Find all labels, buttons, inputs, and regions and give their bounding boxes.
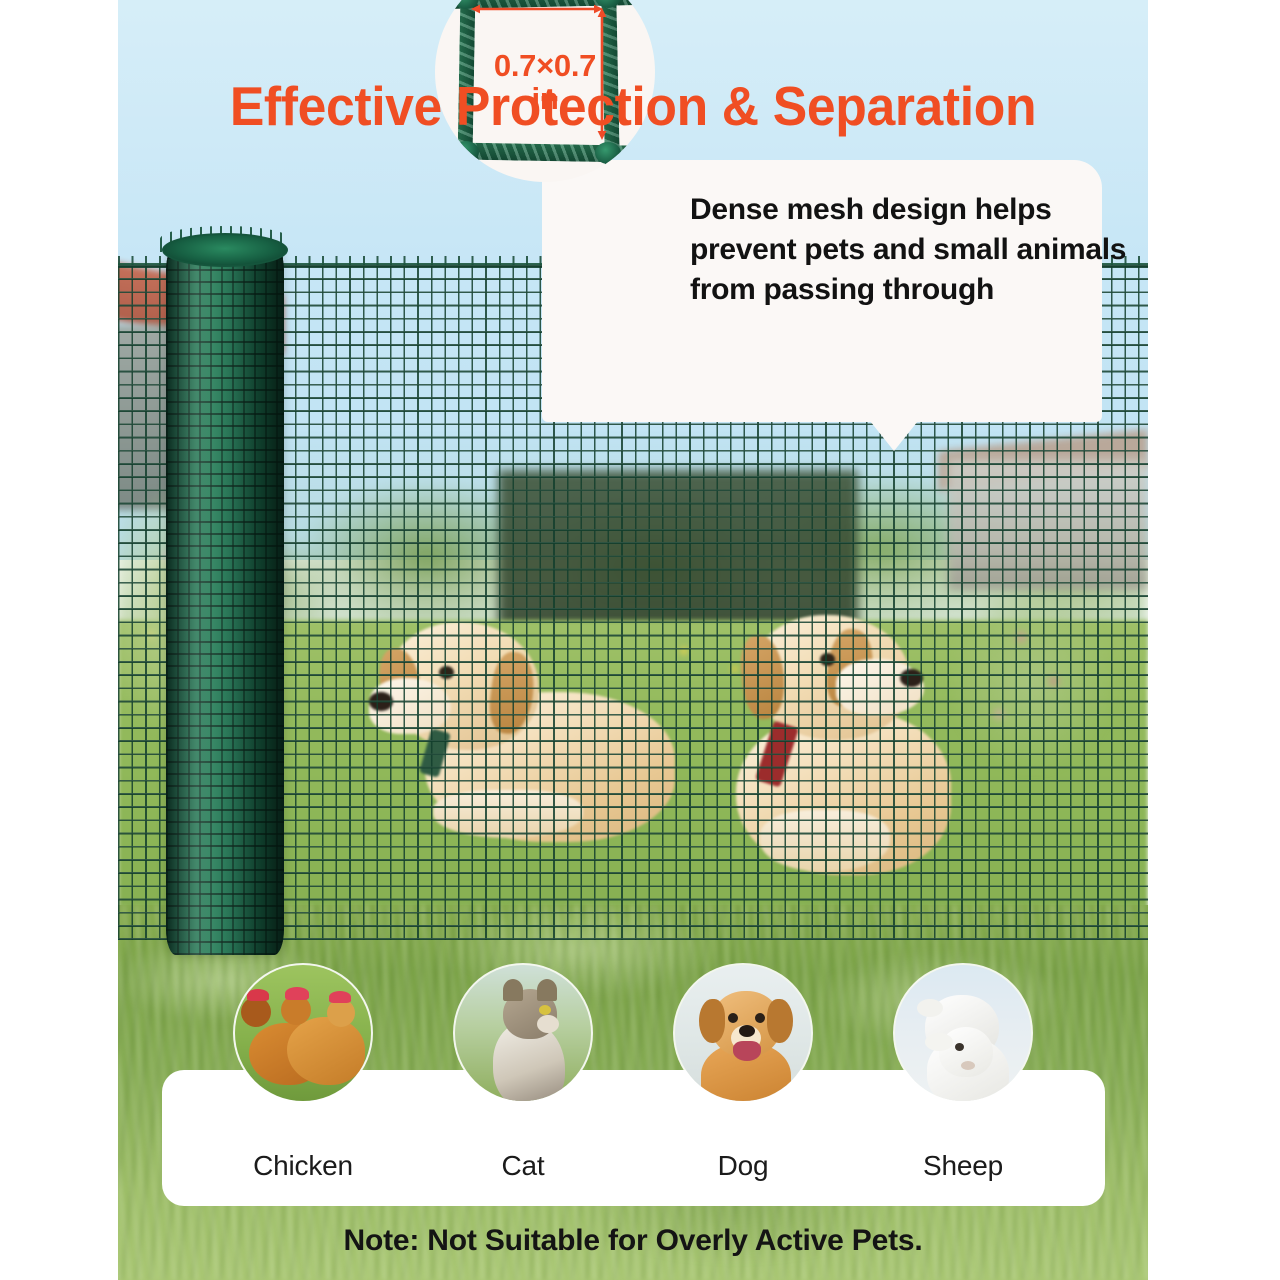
dog-right-front-leg xyxy=(760,810,890,872)
dog-right-nose xyxy=(900,669,923,687)
animal-photo-dog xyxy=(675,965,811,1101)
sheep-front-ear xyxy=(925,1033,953,1051)
dog-right xyxy=(708,595,1048,885)
chicken-comb-1 xyxy=(247,989,269,1001)
chicken-comb-3 xyxy=(329,991,351,1003)
animal-label-sheep: Sheep xyxy=(868,1150,1058,1182)
width-dimension-arrow xyxy=(471,2,603,16)
dog-photo-ear-right xyxy=(767,999,793,1043)
bubble-tail xyxy=(870,421,918,451)
mesh-knot-bottom-right xyxy=(595,142,621,164)
dog-left-eye xyxy=(439,666,454,679)
dog-left-front-leg xyxy=(433,790,583,838)
page-title: Effective Protection & Separation xyxy=(149,74,1117,138)
animal-label-chicken: Chicken xyxy=(208,1150,398,1182)
animal-photo-sheep xyxy=(895,965,1031,1101)
cat-ear-left xyxy=(503,979,523,1001)
dog-left xyxy=(363,600,713,860)
cat-muzzle xyxy=(537,1015,559,1033)
dog-photo-eye-right xyxy=(755,1013,765,1023)
photo-panel: 0.7×0.7 in Dense mesh design helps preve… xyxy=(118,0,1148,1280)
animal-photo-chicken xyxy=(235,965,371,1101)
dog-photo-mouth xyxy=(733,1041,761,1061)
product-infographic: 0.7×0.7 in Dense mesh design helps preve… xyxy=(0,0,1280,1280)
chicken-body-2 xyxy=(287,1017,365,1085)
animal-label-dog: Dog xyxy=(648,1150,838,1182)
sheep-eye xyxy=(955,1043,964,1051)
mesh-roll xyxy=(166,245,284,955)
cat-ear-right xyxy=(537,979,557,1001)
sheep-nose xyxy=(961,1061,975,1070)
chicken-head-1 xyxy=(241,997,271,1027)
dog-right-snout xyxy=(836,659,924,715)
mesh-knot-bottom-left xyxy=(453,141,479,163)
cat-eye xyxy=(539,1005,551,1015)
animal-label-cat: Cat xyxy=(428,1150,618,1182)
chicken-comb-2 xyxy=(285,987,309,1000)
footer-note: Note: Not Suitable for Overly Active Pet… xyxy=(118,1224,1148,1258)
sheep-back-ear xyxy=(917,999,943,1017)
roll-top-ellipse xyxy=(162,233,288,267)
chicken-head-3 xyxy=(327,999,355,1027)
dog-photo-eye-left xyxy=(728,1013,738,1023)
roll-shading xyxy=(166,245,284,955)
dog-photo-nose xyxy=(739,1025,755,1037)
dog-left-nose xyxy=(369,692,393,711)
dog-photo-ear-left xyxy=(699,999,725,1043)
dog-right-eye xyxy=(820,653,835,666)
bubble-description-text: Dense mesh design helps prevent pets and… xyxy=(690,190,1148,310)
animal-photo-cat xyxy=(455,965,591,1101)
